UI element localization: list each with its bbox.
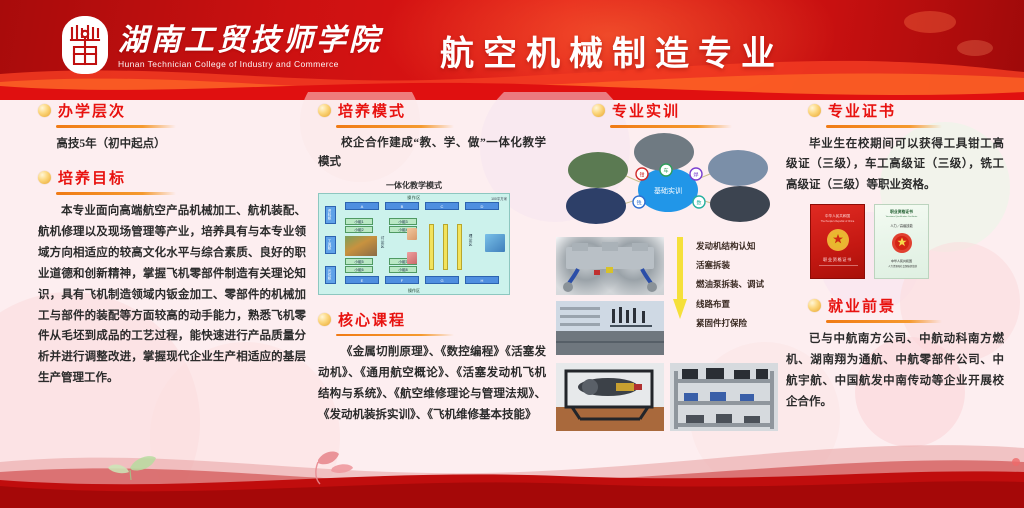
section-heading: 专业实训 (556, 100, 784, 124)
section-underline (826, 125, 942, 128)
engine-stand-photo (556, 363, 664, 431)
section-title: 培养模式 (338, 100, 406, 121)
diagram-area-label: 100平方米 (491, 196, 507, 201)
section-title: 专业证书 (828, 100, 896, 121)
bullet-dot-icon (592, 104, 605, 117)
divider-bar (429, 224, 434, 270)
employment-text: 已与中航南方公司、中航动科南方燃机、湖南翔为通航、中航零部件公司、中航宇航、中国… (786, 329, 1004, 413)
certificates-text: 毕业生在校期间可以获得工具钳工高级证（三级），车工高级证（三级），铣工高级证（三… (786, 134, 1004, 197)
cert-inner-line3: 人力／高级技能 (875, 223, 928, 228)
cert-cover-line2: The People's Republic of China (811, 220, 864, 223)
svg-text:焊: 焊 (693, 171, 698, 178)
cert-inner-line1: 职业资格证书 (875, 210, 928, 215)
station-a: A (345, 202, 379, 210)
column-1: 办学层次 高技5年（初中起点） 培养目标 本专业面向高端航空产品机械加工、航机装… (38, 100, 306, 393)
diagram-computer-icon (485, 234, 505, 252)
section-underline (336, 334, 454, 337)
step-item: 活塞拆装 (696, 256, 764, 275)
section-heading: 办学层次 (38, 100, 306, 124)
core-courses-text: 《金属切削原理》、《数控编程》《活塞发动机》、《通用航空概论》、《活塞发动机飞机… (318, 342, 546, 426)
station-e: E (345, 276, 379, 284)
certificate-images: 中华人民共和国 The People's Republic of China 职… (810, 204, 1004, 279)
station-c: C (425, 202, 459, 210)
section-underline (56, 192, 176, 195)
certificate-cover-image: 中华人民共和国 The People's Republic of China 职… (810, 204, 865, 279)
engine-photo-wrap (556, 237, 664, 355)
school-seal-icon (62, 16, 108, 74)
diagram-zone-bottom-label: 操作区 (319, 288, 509, 294)
school-names: 湖南工贸技师学院 Hunan Technician College of Ind… (118, 21, 382, 70)
group-8: 小组8 (389, 266, 417, 273)
section-heading: 培养模式 (318, 100, 546, 124)
svg-text:数: 数 (696, 199, 701, 206)
section-underline (56, 125, 176, 128)
logo-block: 湖南工贸技师学院 Hunan Technician College of Ind… (62, 16, 382, 74)
divider-bar (443, 224, 448, 270)
cabinet-label-1: 资料柜 (325, 206, 336, 224)
page-title: 航空机械制造专业 (440, 26, 784, 75)
svg-text:钳: 钳 (639, 171, 644, 178)
diagram-photo-thumb (345, 236, 377, 256)
discussion-zone-label: 讨论区 (381, 236, 386, 256)
group-2: 小组2 (345, 226, 373, 233)
cabinet-label-2: 工具柜 (325, 236, 336, 254)
group-1: 小组1 (345, 218, 373, 225)
certificate-inner-image: 职业资格证书 Vocational Qualification Certific… (874, 204, 929, 279)
teaching-layout-diagram: 操作区 A B C D 资料柜 工具柜 元件柜 小组1 小组2 小组3 小组4 … (318, 193, 510, 295)
group-6: 小组6 (345, 266, 373, 273)
station-f: F (385, 276, 419, 284)
training-goal-text: 本专业面向高端航空产品机械加工、航机装配、航机修理以及现场管理等产业，培养具有与… (38, 201, 306, 389)
station-h: H (465, 276, 499, 284)
cert-inner-line2: Vocational Qualification Certificate (875, 216, 928, 218)
bullet-dot-icon (808, 299, 821, 312)
section-underline (826, 320, 942, 323)
school-name-en: Hunan Technician College of Industry and… (118, 59, 382, 69)
national-emblem-icon (890, 231, 914, 255)
station-g: G (425, 276, 459, 284)
column-2: 培养模式 校企合作建成“教、学、做”一体化教学模式 一体化教学模式 操作区 A … (318, 100, 546, 430)
poster-root: 湖南工贸技师学院 Hunan Technician College of Ind… (0, 0, 1024, 508)
engine-training-steps-row: 发动机结构认知 活塞拆装 燃油泵拆装、调试 线路布置 紧固件打保险 (556, 237, 784, 355)
diagram-zone-top-label: 操作区 (319, 195, 509, 201)
section-training-goal: 培养目标 本专业面向高端航空产品机械加工、航机装配、航机修理以及现场管理等产业，… (38, 167, 306, 389)
group-5: 小组5 (345, 258, 373, 265)
step-item: 发动机结构认知 (696, 237, 764, 256)
teaching-layout-figure: 一体化教学模式 操作区 A B C D 资料柜 工具柜 元件柜 小组1 小组2 … (318, 180, 546, 295)
divider-bar (457, 224, 462, 270)
section-professional-training: 专业实训 (556, 100, 784, 128)
diagram-figure-icon (407, 252, 417, 264)
cert-cover-line3: 职业资格证书 (811, 257, 864, 263)
section-title: 就业前景 (828, 295, 896, 316)
school-level-text: 高技5年（初中起点） (38, 134, 306, 155)
tool-wall-photo (556, 301, 664, 355)
cert-cover-line1: 中华人民共和国 (811, 214, 864, 219)
section-training-mode: 培养模式 校企合作建成“教、学、做”一体化教学模式 (318, 100, 546, 173)
cert-inner-line5: 人力资源和社会保障部监制 (877, 265, 928, 268)
bullet-dot-icon (318, 313, 331, 326)
svg-text:车: 车 (663, 167, 668, 174)
school-name-cn: 湖南工贸技师学院 (118, 25, 382, 57)
cabinet-label-3: 元件柜 (325, 266, 336, 284)
section-title: 核心课程 (338, 309, 406, 330)
bullet-dot-icon (318, 104, 331, 117)
group-3: 小组3 (389, 218, 417, 225)
section-heading: 就业前景 (786, 295, 1004, 319)
parts-shelf-photo (670, 363, 778, 431)
step-item: 燃油泵拆装、调试 (696, 275, 764, 294)
section-certificates: 专业证书 毕业生在校期间可以获得工具钳工高级证（三级），车工高级证（三级），铣工… (786, 100, 1004, 196)
bullet-dot-icon (38, 171, 51, 184)
bullet-dot-icon (808, 104, 821, 117)
diagram-figure-icon (407, 228, 417, 240)
section-school-level: 办学层次 高技5年（初中起点） (38, 100, 306, 154)
section-title: 培养目标 (58, 167, 126, 188)
svg-text:铣: 铣 (636, 199, 641, 206)
bullet-dot-icon (38, 104, 51, 117)
station-d: D (465, 202, 499, 210)
section-heading: 培养目标 (38, 167, 306, 191)
svg-text:基础实训: 基础实训 (654, 186, 682, 195)
section-underline (610, 125, 732, 128)
workshop-photo-row (556, 363, 784, 431)
theory-zone-label: 理论区 (469, 234, 474, 258)
poster-header: 湖南工贸技师学院 Hunan Technician College of Ind… (0, 0, 1024, 100)
column-4: 专业证书 毕业生在校期间可以获得工具钳工高级证（三级），车工高级证（三级），铣工… (786, 100, 1004, 416)
cert-divider (819, 265, 858, 266)
process-arrow-icon (672, 237, 688, 355)
section-heading: 专业证书 (786, 100, 1004, 124)
national-emblem-icon (825, 227, 851, 253)
section-underline (336, 125, 454, 128)
training-mode-text: 校企合作建成“教、学、做”一体化教学模式 (318, 134, 546, 173)
training-hub-figure: 基础实训 钳 铣 车 焊 数 (556, 132, 780, 228)
section-title: 办学层次 (58, 100, 126, 121)
engine-assembly-photo (556, 237, 664, 295)
column-3: 专业实训 基础实训 (556, 100, 784, 431)
section-core-courses: 核心课程 《金属切削原理》、《数控编程》《活塞发动机》、《通用航空概论》、《活塞… (318, 309, 546, 426)
step-item: 紧固件打保险 (696, 314, 764, 333)
engine-training-steps: 发动机结构认知 活塞拆装 燃油泵拆装、调试 线路布置 紧固件打保险 (696, 237, 764, 355)
poster-content: 办学层次 高技5年（初中起点） 培养目标 本专业面向高端航空产品机械加工、航机装… (0, 100, 1024, 508)
step-item: 线路布置 (696, 295, 764, 314)
section-employment: 就业前景 已与中航南方公司、中航动科南方燃机、湖南翔为通航、中航零部件公司、中航… (786, 295, 1004, 412)
cert-inner-line4: 中华人民共和国 (875, 259, 928, 263)
section-title: 专业实训 (612, 100, 680, 121)
diagram-caption: 一体化教学模式 (318, 180, 510, 191)
station-b: B (385, 202, 419, 210)
section-heading: 核心课程 (318, 309, 546, 333)
